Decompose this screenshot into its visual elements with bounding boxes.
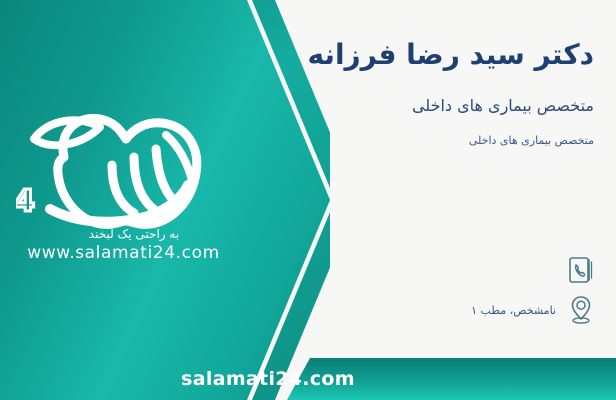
- brand-logo[interactable]: 24 به راحتی یک لبخند www.salamati24.com: [16, 105, 231, 280]
- contact-row-address[interactable]: نامشخص، مطب ۱: [358, 290, 598, 330]
- doctor-specialty-secondary: متخصص بیماری های داخلی: [469, 134, 594, 147]
- location-pin-icon: [564, 293, 598, 327]
- contact-address-value: نامشخص، مطب ۱: [358, 304, 556, 317]
- doctor-profile-card: 24 به راحتی یک لبخند www.salamati24.com …: [0, 0, 616, 400]
- logo-tagline: به راحتی یک لبخند: [89, 227, 179, 242]
- doctor-specialty: متخصص بیماری های داخلی: [412, 96, 594, 115]
- contact-block: نامشخص، مطب ۱: [358, 250, 598, 330]
- contact-phone-value: [358, 265, 556, 276]
- svg-text:24: 24: [16, 184, 34, 219]
- logo-url: www.salamati24.com: [16, 243, 231, 263]
- contact-row-phone[interactable]: [358, 250, 598, 290]
- phone-book-icon: [564, 253, 598, 287]
- footer-bar: salamati24.com: [0, 358, 616, 400]
- apple-logo-icon: 24 به راحتی یک لبخند: [16, 105, 231, 245]
- footer-site-label[interactable]: salamati24.com: [0, 358, 616, 400]
- doctor-name: دکتر سید رضا فرزانه: [307, 38, 594, 71]
